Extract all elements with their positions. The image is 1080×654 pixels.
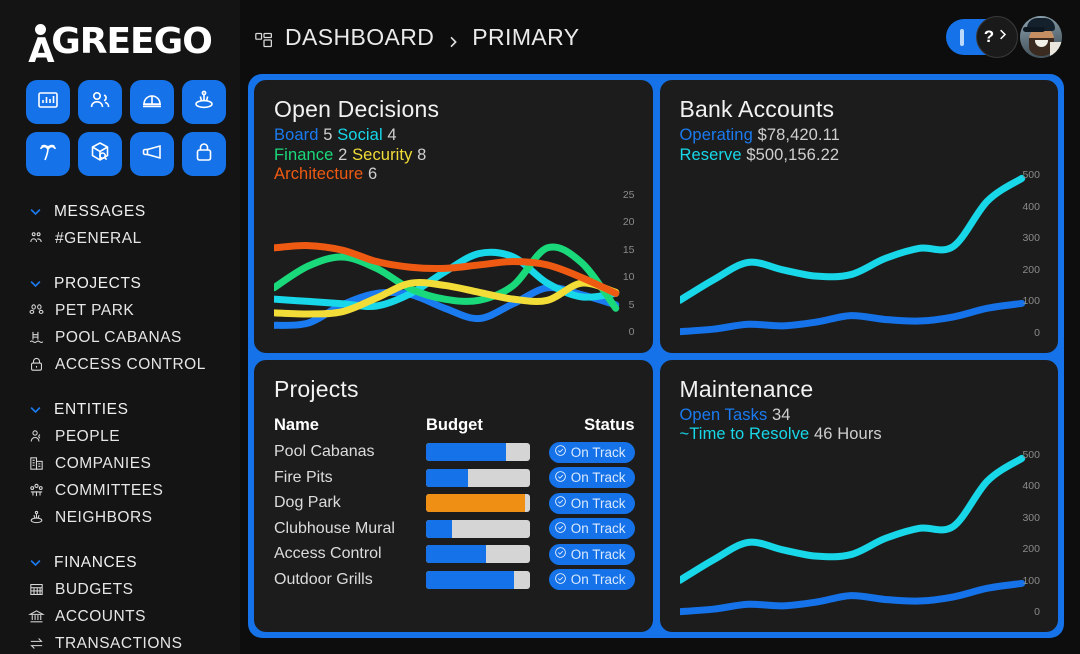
card-title: Maintenance — [680, 376, 1041, 403]
legend-label-open-tasks: Open Tasks — [680, 406, 768, 424]
nav-group-finances: FINANCES BUDGETS ACCOUNTS TRANSACTIONS — [0, 549, 240, 654]
y-tick-label: 10 — [609, 271, 635, 283]
hard-hat-icon — [140, 88, 164, 117]
table-header-row: Name Budget Status — [274, 412, 635, 440]
budget-progress-fill — [426, 545, 486, 563]
budget-progress-fill — [426, 469, 468, 487]
budget-progress-bar — [426, 494, 530, 512]
sidebar-item-label: PET PARK — [55, 302, 134, 320]
open-decisions-chart: 2520151050 — [274, 187, 635, 343]
y-tick-label: 0 — [609, 326, 635, 338]
group-chat-icon — [28, 230, 45, 247]
dashboard-app: A GREE GO — [0, 0, 1080, 654]
tile-package-search[interactable] — [78, 132, 122, 176]
status-badge-label: On Track — [571, 547, 626, 562]
main-area: DASHBOARD PRIMARY ? — [240, 0, 1080, 654]
legend-label-reserve: Reserve — [680, 146, 742, 164]
chart-line--time-to-resolve — [680, 458, 1022, 580]
bank-accounts-legend: Operating $78,420.11 Reserve $500,156.22 — [680, 126, 1041, 165]
tile-people[interactable] — [78, 80, 122, 124]
card-open-decisions: Open Decisions Board 5 Social 4 Finance … — [254, 80, 653, 353]
status-badge-label: On Track — [571, 572, 626, 587]
help-toggle[interactable]: ? — [946, 19, 1012, 55]
sidebar-item-label: ACCESS CONTROL — [55, 356, 206, 374]
top-bar: DASHBOARD PRIMARY ? — [240, 0, 1080, 74]
y-tick-label: 400 — [1014, 480, 1040, 492]
avatar-shirt — [1050, 42, 1062, 58]
sidebar-item-access-control[interactable]: ACCESS CONTROL — [0, 351, 240, 378]
sidebar-item-neighbors[interactable]: NEIGHBORS — [0, 504, 240, 531]
sidebar-item-label: ACCOUNTS — [55, 608, 146, 626]
sidebar-item-committees[interactable]: COMMITTEES — [0, 477, 240, 504]
status-badge[interactable]: On Track — [549, 544, 635, 565]
budget-progress-bar — [426, 545, 530, 563]
logo-text-gree: GREE — [51, 24, 153, 60]
nav-group-header-projects[interactable]: PROJECTS — [0, 270, 240, 297]
person-icon — [28, 428, 45, 445]
committee-icon — [28, 482, 45, 499]
sidebar-item-people[interactable]: PEOPLE — [0, 423, 240, 450]
budget-progress-bar — [426, 520, 530, 538]
y-tick-label: 400 — [1014, 201, 1040, 213]
maintenance-legend: Open Tasks 34 ~Time to Resolve 46 Hours — [680, 406, 1041, 445]
card-title: Bank Accounts — [680, 96, 1041, 123]
bank-accounts-chart: 5004003002001000 — [680, 167, 1041, 343]
legend-label-security: Security — [352, 146, 412, 164]
chart-plot — [680, 167, 1041, 343]
chart-plot — [680, 447, 1041, 623]
chart-line-operating — [680, 303, 1022, 331]
sidebar-item-budgets[interactable]: BUDGETS — [0, 576, 240, 603]
card-title: Projects — [274, 376, 635, 403]
chart-y-axis: 5004003002001000 — [1014, 167, 1040, 343]
nav-group-header-finances[interactable]: FINANCES — [0, 549, 240, 576]
y-tick-label: 15 — [609, 244, 635, 256]
building-icon — [28, 455, 45, 472]
check-circle-icon — [554, 444, 567, 460]
legend-row: Operating $78,420.11 — [680, 126, 1041, 146]
dashboard-panel: Open Decisions Board 5 Social 4 Finance … — [248, 74, 1064, 638]
y-tick-label: 25 — [609, 189, 635, 201]
card-maintenance: Maintenance Open Tasks 34 ~Time to Resol… — [660, 360, 1059, 633]
table-row[interactable]: Pool CabanasOn Track — [274, 440, 635, 466]
table-row[interactable]: Fire PitsOn Track — [274, 465, 635, 491]
sidebar-item-label: TRANSACTIONS — [55, 635, 182, 653]
budget-progress-fill — [426, 494, 525, 512]
y-tick-label: 0 — [1014, 606, 1040, 618]
sidebar-item-label: COMMITTEES — [55, 482, 163, 500]
breadcrumb-root[interactable]: DASHBOARD — [285, 24, 434, 51]
people-icon — [88, 88, 112, 117]
tile-lock[interactable] — [182, 132, 226, 176]
cell-project-name: Clubhouse Mural — [274, 520, 426, 538]
sidebar-item-label: POOL CABANAS — [55, 329, 182, 347]
chart-plot — [274, 187, 635, 343]
projects-table: Name Budget Status Pool CabanasOn TrackF… — [274, 412, 635, 593]
chart-line-open-tasks — [680, 583, 1022, 611]
table-row[interactable]: Access ControlOn Track — [274, 542, 635, 568]
nav-group-label: PROJECTS — [54, 275, 141, 293]
budget-progress-bar — [426, 571, 530, 589]
status-badge[interactable]: On Track — [549, 442, 635, 463]
legend-label-board: Board — [274, 126, 319, 144]
transfer-icon — [28, 635, 45, 652]
chevron-down-icon — [28, 276, 43, 291]
chevron-right-small-icon — [995, 27, 1010, 47]
tile-megaphone[interactable] — [130, 132, 174, 176]
cell-project-name: Fire Pits — [274, 469, 426, 487]
legend-value-board: 5 — [323, 126, 332, 144]
avatar[interactable] — [1020, 16, 1062, 58]
chart-line-reserve — [680, 178, 1022, 300]
chart-y-axis: 2520151050 — [609, 187, 635, 343]
budget-progress-bar — [426, 443, 530, 461]
legend-row: Finance 2 Security 8 — [274, 146, 635, 166]
legend-row: Open Tasks 34 — [680, 406, 1041, 426]
logo-text-go: GO — [154, 24, 212, 60]
status-badge-label: On Track — [571, 521, 626, 536]
question-mark-label: ? — [984, 27, 994, 47]
cell-project-name: Access Control — [274, 545, 426, 563]
grid-icon — [28, 581, 45, 598]
chart-y-axis: 5004003002001000 — [1014, 447, 1040, 623]
legend-value-open-tasks: 34 — [772, 406, 791, 424]
y-tick-label: 200 — [1014, 264, 1040, 276]
status-badge[interactable]: On Track — [549, 569, 635, 590]
legend-label-architecture: Architecture — [274, 165, 363, 183]
nav-group-projects: PROJECTS PET PARK POOL CABANAS ACCESS CO… — [0, 270, 240, 378]
pool-icon — [28, 329, 45, 346]
paw-icon — [28, 302, 45, 319]
y-tick-label: 20 — [609, 216, 635, 228]
sidebar-item-label: PEOPLE — [55, 428, 120, 446]
legend-label-operating: Operating — [680, 126, 753, 144]
top-right-controls: ? — [946, 16, 1062, 58]
sidebar-item-label: COMPANIES — [55, 455, 151, 473]
table-row[interactable]: Clubhouse MuralOn Track — [274, 516, 635, 542]
sidebar-item-general[interactable]: #GENERAL — [0, 225, 240, 252]
megaphone-icon — [140, 140, 164, 169]
bank-icon — [28, 608, 45, 625]
nav-group-label: MESSAGES — [54, 203, 146, 221]
check-circle-icon — [554, 546, 567, 562]
status-badge-label: On Track — [571, 470, 626, 485]
status-badge[interactable]: On Track — [549, 493, 635, 514]
chevron-down-icon — [28, 402, 43, 417]
budget-progress-fill — [426, 443, 506, 461]
padlock-icon — [28, 356, 45, 373]
sidebar-item-transactions[interactable]: TRANSACTIONS — [0, 630, 240, 654]
legend-row: Board 5 Social 4 — [274, 126, 635, 146]
legend-value-time-to-resolve: 46 Hours — [814, 425, 882, 443]
tile-hard-hat[interactable] — [130, 80, 174, 124]
y-tick-label: 500 — [1014, 169, 1040, 181]
sidebar-item-label: NEIGHBORS — [55, 509, 153, 527]
check-circle-icon — [554, 470, 567, 486]
nav-group-entities: ENTITIES PEOPLE COMPANIES COMMITTEES NEI… — [0, 396, 240, 531]
budget-progress-fill — [426, 520, 452, 538]
projects-row-container: Pool CabanasOn TrackFire PitsOn TrackDog… — [274, 440, 635, 593]
cell-project-name: Dog Park — [274, 494, 426, 512]
sidebar-item-label: #GENERAL — [55, 230, 142, 248]
card-projects: Projects Name Budget Status Pool Cabanas… — [254, 360, 653, 633]
legend-label-time-to-resolve: ~Time to Resolve — [680, 425, 810, 443]
help-knob[interactable]: ? — [976, 16, 1018, 58]
legend-value-security: 8 — [417, 146, 426, 164]
chevron-down-icon — [28, 204, 43, 219]
check-circle-icon — [554, 495, 567, 511]
chart-report-icon — [36, 88, 60, 117]
tile-palm-tree[interactable] — [26, 132, 70, 176]
avatar-cap-brim — [1023, 27, 1045, 32]
sidebar-item-companies[interactable]: COMPANIES — [0, 450, 240, 477]
legend-value-operating: $78,420.11 — [758, 126, 840, 144]
nav-group-label: ENTITIES — [54, 401, 129, 419]
status-badge-label: On Track — [571, 496, 626, 511]
status-badge-label: On Track — [571, 445, 626, 460]
table-row[interactable]: Outdoor GrillsOn Track — [274, 567, 635, 593]
toggle-bar-icon — [960, 29, 964, 46]
chevron-down-icon — [28, 555, 43, 570]
column-header-name: Name — [274, 416, 426, 435]
y-tick-label: 300 — [1014, 512, 1040, 524]
legend-label-social: Social — [337, 126, 383, 144]
column-header-budget: Budget — [426, 416, 542, 435]
nav-group-label: FINANCES — [54, 554, 137, 572]
sidebar-item-pool-cabanas[interactable]: POOL CABANAS — [0, 324, 240, 351]
budget-progress-fill — [426, 571, 514, 589]
fountain-icon — [192, 88, 216, 117]
y-tick-label: 300 — [1014, 232, 1040, 244]
legend-row: Reserve $500,156.22 — [680, 146, 1041, 166]
nav-group-messages: MESSAGES #GENERAL — [0, 198, 240, 252]
y-tick-label: 5 — [609, 299, 635, 311]
y-tick-label: 500 — [1014, 449, 1040, 461]
legend-value-architecture: 6 — [368, 165, 377, 183]
palm-tree-icon — [36, 140, 60, 169]
nav-group-header-entities[interactable]: ENTITIES — [0, 396, 240, 423]
maintenance-chart: 5004003002001000 — [680, 447, 1041, 623]
y-tick-label: 100 — [1014, 575, 1040, 587]
brand-logo[interactable]: A GREE GO — [0, 14, 240, 70]
quick-tiles — [0, 70, 240, 176]
legend-value-finance: 2 — [338, 146, 347, 164]
nav-group-header-messages[interactable]: MESSAGES — [0, 198, 240, 225]
legend-row: ~Time to Resolve 46 Hours — [680, 425, 1041, 445]
breadcrumb-current: PRIMARY — [472, 24, 579, 51]
lock-icon — [192, 140, 216, 169]
column-header-status: Status — [584, 416, 634, 435]
y-tick-label: 0 — [1014, 327, 1040, 339]
cell-project-name: Pool Cabanas — [274, 443, 426, 461]
tile-chart-report[interactable] — [26, 80, 70, 124]
dashboard-grid-icon — [254, 28, 274, 46]
open-decisions-legend: Board 5 Social 4 Finance 2 Security 8 Ar… — [274, 126, 635, 185]
sidebar-item-pet-park[interactable]: PET PARK — [0, 297, 240, 324]
check-circle-icon — [554, 572, 567, 588]
breadcrumb: DASHBOARD PRIMARY — [254, 24, 579, 51]
cell-project-name: Outdoor Grills — [274, 571, 426, 589]
status-badge[interactable]: On Track — [549, 518, 635, 539]
sidebar-item-label: BUDGETS — [55, 581, 133, 599]
budget-progress-bar — [426, 469, 530, 487]
sidebar: A GREE GO — [0, 0, 240, 654]
card-bank-accounts: Bank Accounts Operating $78,420.11 Reser… — [660, 80, 1059, 353]
legend-value-reserve: $500,156.22 — [746, 146, 839, 164]
check-circle-icon — [554, 521, 567, 537]
y-tick-label: 100 — [1014, 295, 1040, 307]
fountain-small-icon — [28, 509, 45, 526]
card-title: Open Decisions — [274, 96, 635, 123]
status-badge[interactable]: On Track — [549, 467, 635, 488]
tile-fountain[interactable] — [182, 80, 226, 124]
chevron-right-icon — [445, 29, 461, 45]
package-search-icon — [88, 140, 112, 169]
legend-label-finance: Finance — [274, 146, 333, 164]
sidebar-item-accounts[interactable]: ACCOUNTS — [0, 603, 240, 630]
legend-value-social: 4 — [387, 126, 396, 144]
logo-mark-icon: A — [28, 25, 54, 59]
table-row[interactable]: Dog ParkOn Track — [274, 491, 635, 517]
legend-row: Architecture 6 — [274, 165, 635, 185]
y-tick-label: 200 — [1014, 543, 1040, 555]
